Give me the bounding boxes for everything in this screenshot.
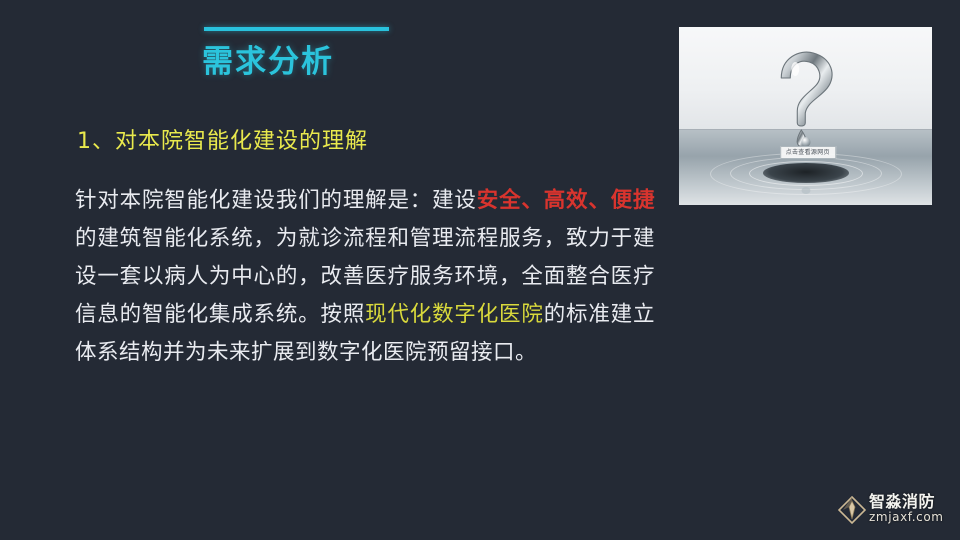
body-paragraph: 针对本院智能化建设我们的理解是：建设安全、高效、便捷的建筑智能化系统，为就诊流程… [75, 182, 655, 372]
body-emphasis-red: 安全、高效、便捷 [477, 188, 655, 213]
body-text-part-1: 针对本院智能化建设我们的理解是：建设 [75, 188, 477, 213]
section-subtitle: 1、对本院智能化建设的理解 [77, 126, 368, 158]
ripple-center-shadow [763, 163, 849, 183]
diamond-logo-icon [838, 496, 866, 524]
watermark-logo: 智淼消防 zmjaxf.com [838, 490, 953, 530]
title-underline-rule [204, 27, 389, 31]
water-drop-question-image: 点击查看源网页 [679, 27, 932, 205]
watermark-brand-name: 智淼消防 [869, 492, 935, 512]
body-emphasis-yellow: 现代化数字化医院 [365, 302, 544, 327]
water-reflection-dot [801, 187, 810, 194]
watermark-domain: zmjaxf.com [869, 510, 944, 524]
slide-canvas: 需求分析 1、对本院智能化建设的理解 针对本院智能化建设我们的理解是：建设安全、… [0, 0, 960, 540]
page-title: 需求分析 [202, 42, 334, 82]
photo-caption-label: 点击查看源网页 [780, 146, 836, 159]
